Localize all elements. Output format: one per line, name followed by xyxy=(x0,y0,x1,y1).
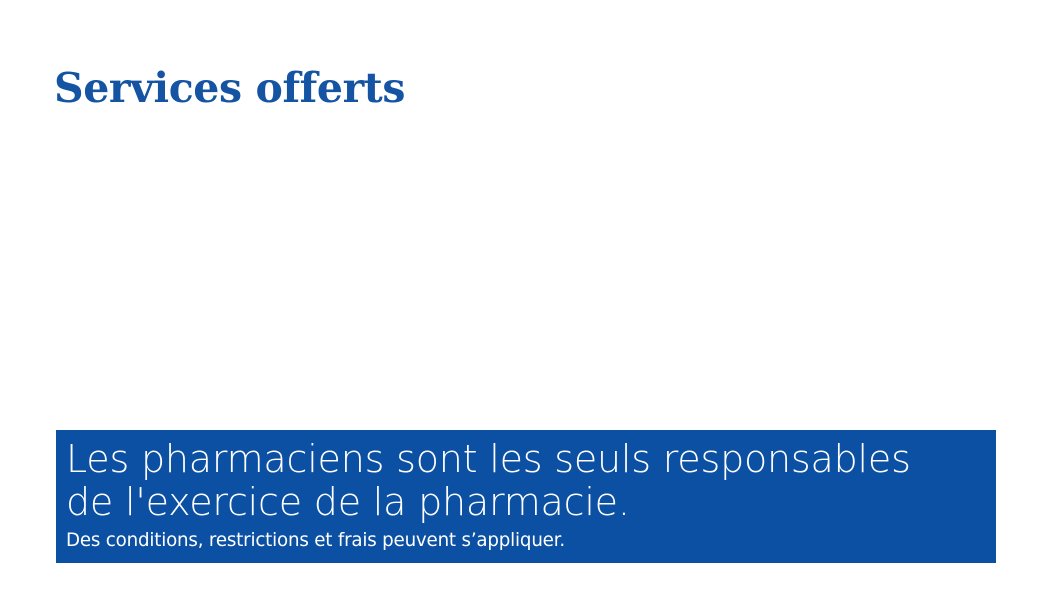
callout-headline: Les pharmaciens sont les seuls responsab… xyxy=(66,438,996,524)
page-title: Services offerts xyxy=(54,64,405,112)
callout-subtext: Des conditions, restrictions et frais pe… xyxy=(66,528,959,552)
callout-headline-line-2: de l'exercice de la pharmacie. xyxy=(66,481,996,524)
callout-band: Les pharmaciens sont les seuls responsab… xyxy=(56,430,996,563)
slide-canvas: Services offerts Les pharmaciens sont le… xyxy=(0,0,1050,600)
callout-headline-line-1: Les pharmaciens sont les seuls responsab… xyxy=(66,438,996,481)
